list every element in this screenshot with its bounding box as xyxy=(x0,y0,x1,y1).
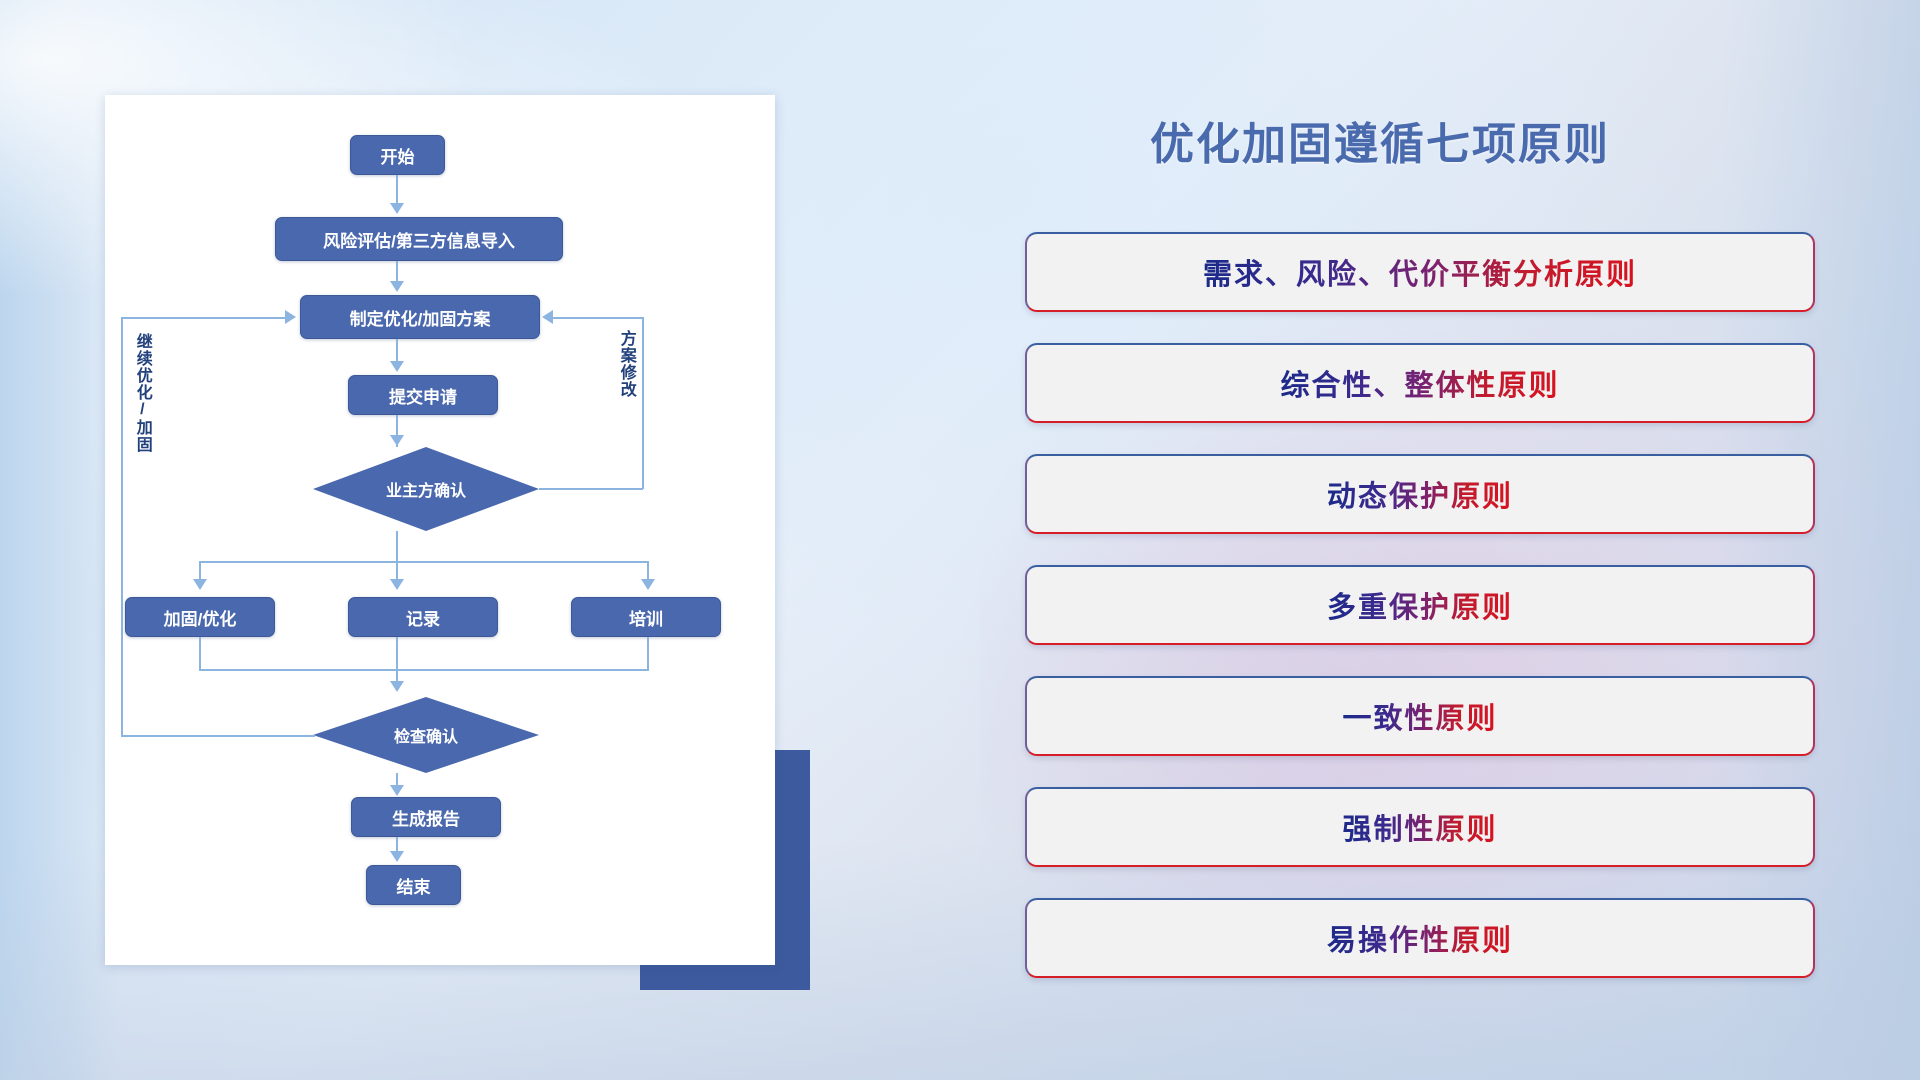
connector-plan-submit xyxy=(396,339,398,363)
arrow-report-end xyxy=(390,851,404,862)
principle-card-4[interactable]: 多重保护原则 xyxy=(1025,565,1815,645)
arrow-split-right xyxy=(641,579,655,590)
flow-node-check-confirm[interactable]: 检查确认 xyxy=(313,697,539,773)
principle-label-2: 综合性、整体性原则 xyxy=(1280,362,1559,404)
principle-label-5: 一致性原则 xyxy=(1342,695,1497,737)
principle-label-3: 动态保护原则 xyxy=(1327,473,1513,515)
flow-node-reinforce-optimize[interactable]: 加固/优化 xyxy=(125,597,275,637)
connector-revision-to-plan xyxy=(553,317,643,319)
flow-node-end[interactable]: 结束 xyxy=(366,865,461,905)
principle-label-4: 多重保护原则 xyxy=(1327,584,1513,626)
principle-card-6[interactable]: 强制性原则 xyxy=(1025,787,1815,867)
connector-split-bar xyxy=(199,561,649,563)
principle-card-2[interactable]: 综合性、整体性原则 xyxy=(1025,343,1815,423)
arrow-revision-to-plan xyxy=(542,310,553,324)
principle-card-1[interactable]: 需求、风险、代价平衡分析原则 xyxy=(1025,232,1815,312)
flow-node-start[interactable]: 开始 xyxy=(350,135,445,175)
principle-label-7: 易操作性原则 xyxy=(1327,917,1513,959)
principle-card-3[interactable]: 动态保护原则 xyxy=(1025,454,1815,534)
flow-node-generate-report[interactable]: 生成报告 xyxy=(351,797,501,837)
background-wash-left xyxy=(0,0,120,1080)
flow-node-plan[interactable]: 制定优化/加固方案 xyxy=(300,295,540,339)
connector-report-end xyxy=(396,837,398,851)
arrow-plan-submit xyxy=(390,361,404,372)
arrow-assess-plan xyxy=(390,281,404,292)
arrow-split-left xyxy=(193,579,207,590)
connector-start-assess xyxy=(396,175,398,205)
connector-merge-right xyxy=(647,637,649,671)
connector-continue-vertical xyxy=(121,317,123,737)
arrow-check-report xyxy=(390,785,404,796)
flow-edge-label-continue-optimize: 继续优化/加固 xyxy=(133,333,150,453)
principle-card-5[interactable]: 一致性原则 xyxy=(1025,676,1815,756)
connector-continue-to-plan xyxy=(121,317,287,319)
arrow-start-assess xyxy=(390,203,404,214)
arrow-continue-to-plan xyxy=(285,310,296,324)
connector-owner-record xyxy=(396,531,398,583)
connector-merge-bar xyxy=(199,669,649,671)
flow-node-check-confirm-label: 检查确认 xyxy=(394,723,458,747)
principle-label-6: 强制性原则 xyxy=(1342,806,1497,848)
arrow-merge-check xyxy=(390,681,404,692)
principle-card-7[interactable]: 易操作性原则 xyxy=(1025,898,1815,978)
connector-record-check xyxy=(396,637,398,685)
connector-owner-right xyxy=(539,488,643,490)
connector-assess-plan xyxy=(396,261,398,283)
flow-node-submit-application[interactable]: 提交申请 xyxy=(348,375,498,415)
flowchart-card: 开始 风险评估/第三方信息导入 制定优化/加固方案 提交申请 业主方确认 加固/… xyxy=(105,95,775,965)
principles-list: 需求、风险、代价平衡分析原则 综合性、整体性原则 动态保护原则 多重保护原则 一… xyxy=(1025,232,1815,978)
flow-node-owner-confirm-label: 业主方确认 xyxy=(386,477,466,501)
connector-check-left xyxy=(121,735,315,737)
flow-edge-label-plan-revision: 方案修改 xyxy=(617,330,634,398)
flow-node-risk-assessment[interactable]: 风险评估/第三方信息导入 xyxy=(275,217,563,261)
page-title: 优化加固遵循七项原则 xyxy=(1020,108,1740,172)
flow-node-owner-confirm[interactable]: 业主方确认 xyxy=(313,447,539,531)
flowchart-canvas: 开始 风险评估/第三方信息导入 制定优化/加固方案 提交申请 业主方确认 加固/… xyxy=(105,95,775,965)
connector-merge-left xyxy=(199,637,201,671)
flow-node-training[interactable]: 培训 xyxy=(571,597,721,637)
arrow-owner-record xyxy=(390,579,404,590)
flow-node-record[interactable]: 记录 xyxy=(348,597,498,637)
principle-label-1: 需求、风险、代价平衡分析原则 xyxy=(1203,251,1637,293)
arrow-submit-owner xyxy=(390,435,404,446)
connector-revision-vertical xyxy=(642,317,644,489)
